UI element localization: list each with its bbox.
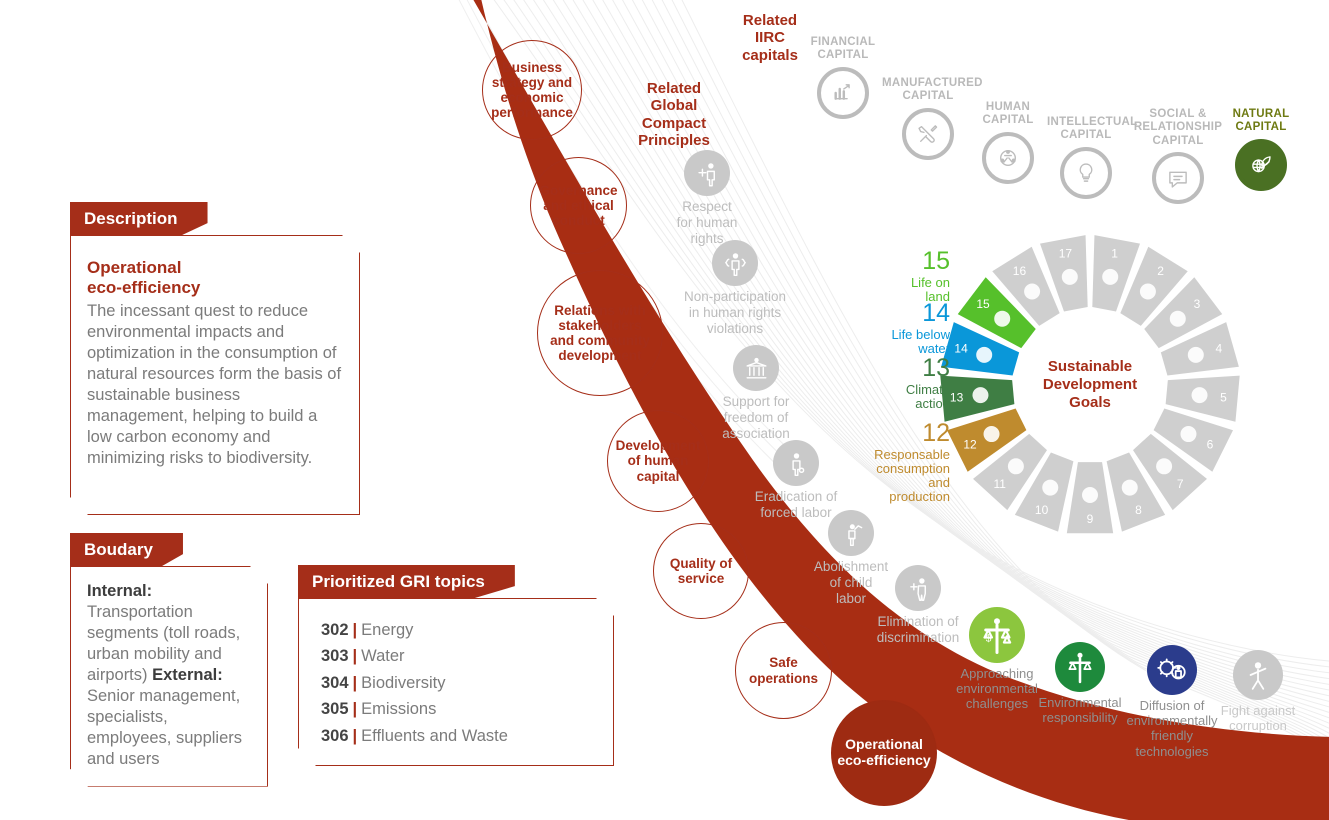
- sdg-segment-icon: [1188, 347, 1204, 363]
- sdg-segment-number: 1: [1111, 246, 1118, 260]
- sdg-highlight-number: 15: [922, 247, 950, 275]
- sdg-segment-icon: [976, 347, 992, 363]
- sdg-segment-icon: [1102, 269, 1118, 285]
- svg-text:$: $: [986, 633, 992, 644]
- iirc-capital-label: FINANCIAL CAPITAL: [804, 36, 882, 63]
- gri-topic-name: Energy: [361, 621, 413, 639]
- description-card-body: Operational eco-efficiency The incessant…: [70, 235, 360, 515]
- environment-principle-item[interactable]: Fight against corruption: [1216, 650, 1300, 733]
- topic-circle[interactable]: Business strategy and economic performan…: [482, 40, 582, 140]
- sdg-segment-icon: [1008, 458, 1024, 474]
- topic-circle-label: Relations with stakeholders and communit…: [546, 303, 654, 363]
- boundary-card: Boudary Internal: Transportation segment…: [70, 533, 268, 787]
- sdg-segment-number: 12: [963, 438, 977, 452]
- person-brackets-icon: [712, 240, 758, 286]
- sdg-segment-number: 4: [1216, 341, 1223, 355]
- topic-circle-label: Governance and ethical conduct: [535, 183, 621, 228]
- iirc-capital-item[interactable]: SOCIAL & RELATIONSHIP CAPITAL: [1130, 105, 1226, 204]
- environment-principle-label: Diffusion of environmentally friendly te…: [1124, 698, 1220, 759]
- boundary-external-label: External:: [152, 666, 223, 684]
- gri-separator: |: [349, 621, 362, 639]
- topic-circle-label: Safe operations: [745, 655, 822, 685]
- sdg-segment-number: 3: [1194, 297, 1201, 311]
- boundary-card-text: Internal: Transportation segments (toll …: [87, 581, 251, 770]
- heading-global-compact: Related Global Compact Principles: [627, 80, 721, 149]
- sdg-highlight-title: Climate action: [858, 383, 950, 411]
- iirc-capital-item[interactable]: MANUFACTURED CAPITAL: [882, 74, 974, 160]
- sdg-core-title: Sustainable Development Goals: [1015, 358, 1165, 412]
- gri-topic-row: 306|Effluents and Waste: [321, 723, 597, 749]
- sdg-highlight-label[interactable]: 15Life on land: [880, 248, 950, 304]
- topic-circle-label: Business strategy and economic performan…: [487, 60, 577, 120]
- gri-card-tab: Prioritized GRI topics: [298, 565, 515, 599]
- gri-topic-code: 305: [321, 700, 349, 718]
- global-compact-item[interactable]: Eradication of forced labor: [748, 440, 844, 521]
- gri-topic-code: 306: [321, 727, 349, 745]
- sdg-segment-number: 16: [1013, 264, 1027, 278]
- assembly-icon: [733, 345, 779, 391]
- gri-separator: |: [349, 647, 362, 665]
- environment-principle-item[interactable]: Environmental responsibility: [1032, 642, 1128, 725]
- description-card-title: Operational eco-efficiency: [87, 258, 343, 298]
- iirc-capital-label: MANUFACTURED CAPITAL: [882, 77, 974, 104]
- topic-circle-active[interactable]: Operational eco-efficiency: [831, 700, 937, 806]
- global-compact-item[interactable]: Support for freedom of association: [706, 345, 806, 441]
- sdg-segment-icon: [1122, 480, 1138, 496]
- sdg-segment-number: 17: [1059, 246, 1073, 260]
- sdg-segment-number: 8: [1135, 503, 1142, 517]
- sdg-segment-number: 9: [1087, 512, 1094, 526]
- environment-principle-item[interactable]: $Approaching environmental challenges: [950, 607, 1044, 712]
- sdg-segment-icon: [1192, 387, 1208, 403]
- sdg-segment-icon: [1042, 480, 1058, 496]
- scales-balance-icon: [1055, 642, 1105, 692]
- gri-topic-name: Effluents and Waste: [361, 727, 508, 745]
- sdg-segment-icon: [1062, 269, 1078, 285]
- sdg-segment-number: 15: [976, 297, 990, 311]
- sdg-highlight-number: 12: [922, 419, 950, 447]
- sdg-segment-number: 14: [954, 341, 968, 355]
- sdg-segment-number: 6: [1207, 438, 1214, 452]
- gri-topic-row: 303|Water: [321, 643, 597, 669]
- sdg-segment-icon: [1024, 283, 1040, 299]
- iirc-capital-label: INTELLECTUAL CAPITAL: [1047, 116, 1125, 143]
- boundary-card-tab: Boudary: [70, 533, 183, 567]
- gri-separator: |: [349, 700, 362, 718]
- global-compact-label: Non-participation in human rights violat…: [680, 289, 790, 336]
- iirc-capital-item[interactable]: NATURAL CAPITAL: [1228, 105, 1294, 191]
- infographic-canvas: Description Operational eco-efficiency T…: [0, 0, 1329, 820]
- gri-topic-name: Water: [361, 647, 404, 665]
- sdg-segment-number: 7: [1177, 477, 1184, 491]
- tools-icon: [902, 108, 954, 160]
- child-labor-icon: [828, 510, 874, 556]
- boundary-internal-label: Internal:: [87, 582, 152, 600]
- boundary-external-text: Senior management, specialists, employee…: [87, 687, 242, 768]
- gri-topic-code: 302: [321, 621, 349, 639]
- sdg-wheel: 1234567891011121314151617 Sustainable De…: [930, 225, 1250, 545]
- description-card-text: The incessant quest to reduce environmen…: [87, 301, 343, 469]
- sdg-segment-number: 10: [1035, 503, 1049, 517]
- sdg-segment-icon: [984, 426, 1000, 442]
- topic-circle[interactable]: Governance and ethical conduct: [530, 157, 627, 254]
- gears-person-icon: [1147, 645, 1197, 695]
- lightbulb-icon: [1060, 147, 1112, 199]
- sdg-segment-number: 13: [950, 390, 964, 404]
- description-card-tab: Description: [70, 202, 208, 236]
- sdg-segment-number: 2: [1157, 264, 1164, 278]
- iirc-capital-label: HUMAN CAPITAL: [976, 101, 1040, 128]
- sdg-highlight-number: 14: [922, 299, 950, 327]
- sdg-highlight-label[interactable]: 14Life below water: [862, 300, 950, 356]
- sdg-segment-icon: [1156, 458, 1172, 474]
- sdg-segment-number: 11: [993, 477, 1006, 491]
- topic-circle-label: Development of human capital: [612, 438, 705, 483]
- environment-principle-item[interactable]: Diffusion of environmentally friendly te…: [1124, 645, 1220, 759]
- sdg-segment-icon: [972, 387, 988, 403]
- environment-principle-label: Fight against corruption: [1216, 703, 1300, 733]
- sdg-segment-icon: [1170, 311, 1186, 327]
- gri-topic-name: Emissions: [361, 700, 436, 718]
- gri-topic-code: 303: [321, 647, 349, 665]
- gri-card: Prioritized GRI topics 302|Energy303|Wat…: [298, 565, 614, 766]
- sdg-highlight-label[interactable]: 13Climate action: [858, 355, 950, 411]
- heading-iirc-capitals: Related IIRC capitals: [729, 12, 811, 64]
- topic-circle-label: Operational eco-efficiency: [833, 737, 934, 768]
- sdg-segment-icon: [1140, 283, 1156, 299]
- person-shackle-icon: [773, 440, 819, 486]
- person-plus-icon: [684, 150, 730, 196]
- leaf-globe-icon: [1235, 139, 1287, 191]
- gri-separator: |: [349, 727, 362, 745]
- sdg-highlight-number: 13: [922, 354, 950, 382]
- gri-topic-list: 302|Energy303|Water304|Biodiversity305|E…: [321, 617, 597, 749]
- gri-topic-row: 305|Emissions: [321, 696, 597, 722]
- person-arms-icon: [1233, 650, 1283, 700]
- scales-money-icon: $: [969, 607, 1025, 663]
- gri-topic-row: 304|Biodiversity: [321, 670, 597, 696]
- bar-chart-icon: [817, 67, 869, 119]
- people-circle-icon: [982, 132, 1034, 184]
- topic-circle[interactable]: Relations with stakeholders and communit…: [537, 270, 663, 396]
- gri-card-body: 302|Energy303|Water304|Biodiversity305|E…: [298, 598, 614, 766]
- person-equals-icon: [895, 565, 941, 611]
- sdg-segment-icon: [1180, 426, 1196, 442]
- gri-topic-row: 302|Energy: [321, 617, 597, 643]
- sdg-highlight-title: Life below water: [862, 328, 950, 356]
- sdg-segment-number: 5: [1220, 390, 1227, 404]
- topic-circle[interactable]: Quality of service: [653, 523, 749, 619]
- sdg-segment-icon: [1082, 487, 1098, 503]
- gri-separator: |: [349, 674, 362, 692]
- iirc-capital-item[interactable]: FINANCIAL CAPITAL: [804, 33, 882, 119]
- environment-principle-label: Environmental responsibility: [1032, 695, 1128, 725]
- iirc-capital-label: SOCIAL & RELATIONSHIP CAPITAL: [1130, 108, 1226, 148]
- sdg-segment-icon: [994, 311, 1010, 327]
- sdg-highlight-title: Responsable consumption and production: [855, 448, 950, 504]
- gri-topic-code: 304: [321, 674, 349, 692]
- boundary-card-body: Internal: Transportation segments (toll …: [70, 566, 268, 787]
- global-compact-item[interactable]: Non-participation in human rights violat…: [680, 240, 790, 336]
- iirc-capital-label: NATURAL CAPITAL: [1228, 108, 1294, 135]
- topic-circle-label: Quality of service: [666, 556, 736, 586]
- topic-circle[interactable]: Development of human capital: [607, 410, 709, 512]
- topic-circle[interactable]: Safe operations: [735, 622, 832, 719]
- global-compact-item[interactable]: Respect for human rights: [664, 150, 750, 246]
- iirc-capital-item[interactable]: HUMAN CAPITAL: [976, 98, 1040, 184]
- sdg-highlight-label[interactable]: 12Responsable consumption and production: [855, 420, 950, 504]
- gri-topic-name: Biodiversity: [361, 674, 445, 692]
- environment-principle-label: Approaching environmental challenges: [950, 666, 1044, 712]
- global-compact-label: Support for freedom of association: [706, 394, 806, 441]
- iirc-capital-item[interactable]: INTELLECTUAL CAPITAL: [1047, 113, 1125, 199]
- speech-bubble-icon: [1152, 152, 1204, 204]
- description-card: Description Operational eco-efficiency T…: [70, 202, 360, 515]
